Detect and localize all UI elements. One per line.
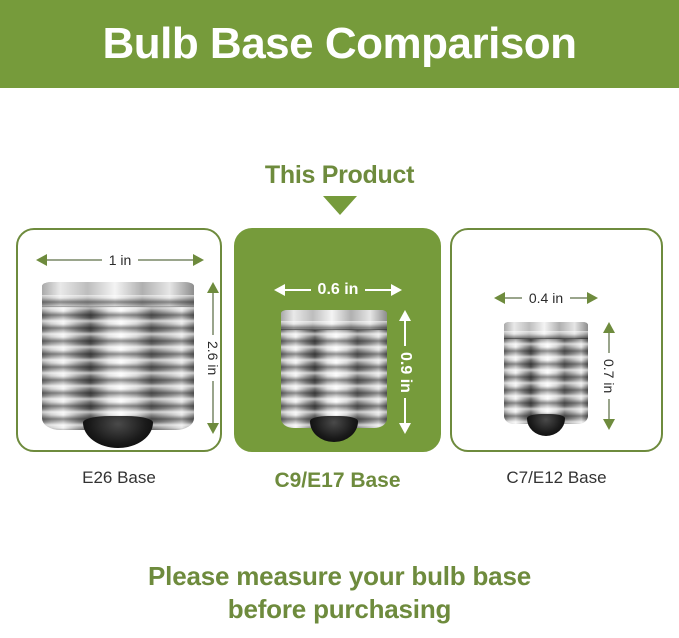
dimension-line xyxy=(570,297,587,299)
arrow-up-head-icon xyxy=(399,310,411,321)
footer-note-line-2: before purchasing xyxy=(0,593,679,626)
height-dimension-e26: 2.6 in xyxy=(204,282,222,434)
dimension-line xyxy=(365,289,391,291)
width-dimension-e26: 1 in xyxy=(36,252,204,268)
arrow-right-head-icon xyxy=(391,284,402,296)
bulb-base-icon xyxy=(42,282,194,430)
arrow-left-head-icon xyxy=(274,284,285,296)
bulb-body xyxy=(281,310,387,428)
arrow-left-head-icon xyxy=(36,254,47,266)
bulb-base-icon xyxy=(504,322,588,424)
arrow-down-head-icon xyxy=(207,423,219,434)
this-product-label: This Product xyxy=(0,162,679,190)
dimension-line xyxy=(138,259,193,261)
arrow-down-head-icon xyxy=(603,419,615,430)
arrow-left-head-icon xyxy=(494,292,505,304)
bulb-threads xyxy=(42,295,194,430)
arrow-up-head-icon xyxy=(207,282,219,293)
page-title: Bulb Base Comparison xyxy=(102,22,576,66)
footer-note-line-1: Please measure your bulb base xyxy=(0,560,679,593)
height-dimension-label: 0.9 in xyxy=(397,346,413,399)
height-dimension-c7e12: 0.7 in xyxy=(600,322,618,430)
dimension-line xyxy=(608,333,610,353)
height-dimension-label: 0.7 in xyxy=(602,353,616,399)
width-dimension-label: 0.6 in xyxy=(311,282,366,298)
dimension-line xyxy=(212,293,214,335)
width-dimension-c7e12: 0.4 in xyxy=(494,290,598,306)
arrow-up-head-icon xyxy=(603,322,615,333)
triangle-down-icon xyxy=(323,196,357,215)
panel-c7e12[interactable]: 0.4 in 0.7 in xyxy=(450,228,663,452)
footer-note: Please measure your bulb base before pur… xyxy=(0,560,679,627)
base-label-c7e12: C7/E12 Base xyxy=(450,468,663,488)
arrow-right-head-icon xyxy=(587,292,598,304)
bulb-tip xyxy=(83,416,153,448)
width-dimension-label: 0.4 in xyxy=(522,291,570,305)
comparison-panels: 1 in 2.6 in 0.6 in xyxy=(0,228,679,454)
dimension-line xyxy=(212,381,214,423)
base-labels-row: E26 Base C9/E17 Base C7/E12 Base xyxy=(0,468,679,498)
bulb-body xyxy=(504,322,588,424)
panel-e26[interactable]: 1 in 2.6 in xyxy=(16,228,222,452)
width-dimension-label: 1 in xyxy=(102,253,139,267)
header-banner: Bulb Base Comparison xyxy=(0,0,679,88)
height-dimension-c9e17: 0.9 in xyxy=(396,310,414,434)
bulb-body xyxy=(42,282,194,430)
width-dimension-c9e17: 0.6 in xyxy=(274,282,402,298)
dimension-line xyxy=(47,259,102,261)
base-label-e26: E26 Base xyxy=(16,468,222,488)
bulb-base-icon xyxy=(281,310,387,428)
dimension-line xyxy=(505,297,522,299)
arrow-down-head-icon xyxy=(399,423,411,434)
height-dimension-label: 2.6 in xyxy=(206,335,220,381)
base-label-c9e17: C9/E17 Base xyxy=(234,468,441,493)
dimension-line xyxy=(608,399,610,419)
dimension-line xyxy=(404,398,406,423)
bulb-tip xyxy=(527,414,566,436)
panel-c9e17[interactable]: 0.6 in 0.9 in xyxy=(234,228,441,452)
bulb-tip xyxy=(310,416,359,442)
dimension-line xyxy=(404,321,406,346)
bulb-threads xyxy=(281,321,387,428)
arrow-right-head-icon xyxy=(193,254,204,266)
dimension-line xyxy=(285,289,311,291)
this-product-callout: This Product xyxy=(0,162,679,220)
bulb-threads xyxy=(504,331,588,424)
